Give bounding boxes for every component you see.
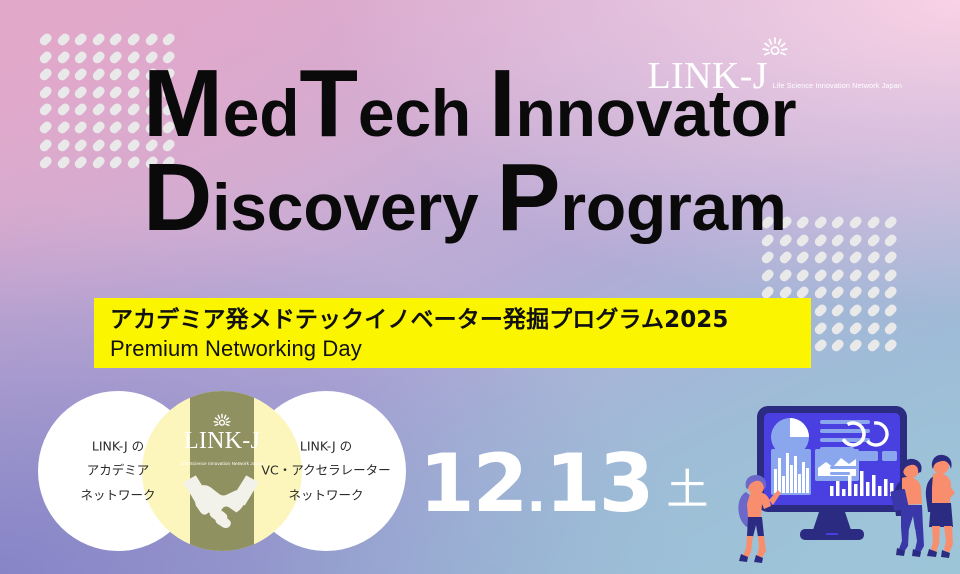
title-cap-p: P xyxy=(496,144,560,251)
subtitle-japanese: アカデミア発メドテックイノベーター発掘プログラム2025 xyxy=(110,305,811,335)
pattern-dot xyxy=(73,67,88,82)
pattern-dot xyxy=(108,102,123,117)
pattern-dot xyxy=(91,84,106,99)
pattern-dot xyxy=(91,67,106,82)
pattern-dot xyxy=(813,338,828,353)
pattern-dot xyxy=(73,102,88,117)
pattern-dot xyxy=(73,49,88,64)
pattern-dot xyxy=(55,102,70,117)
pattern-dot xyxy=(73,155,88,170)
pattern-dot xyxy=(883,232,898,247)
pattern-dot xyxy=(883,267,898,282)
pattern-dot xyxy=(865,303,880,318)
pattern-dot xyxy=(91,155,106,170)
pattern-dot xyxy=(865,320,880,335)
pattern-dot xyxy=(813,250,828,265)
pattern-dot xyxy=(126,137,141,152)
pattern-dot xyxy=(55,155,70,170)
pattern-dot xyxy=(126,102,141,117)
pattern-dot xyxy=(830,338,845,353)
monitor-stand-neck xyxy=(813,512,851,530)
pattern-dot xyxy=(55,67,70,82)
pattern-dot xyxy=(830,303,845,318)
title-text-nnovator: nnovator xyxy=(516,76,797,150)
pattern-dot xyxy=(848,250,863,265)
pattern-dot xyxy=(883,320,898,335)
pattern-dot xyxy=(848,232,863,247)
pattern-dot xyxy=(795,215,810,230)
title-line-1: MedTechInnovator xyxy=(143,57,796,151)
pattern-dot xyxy=(865,215,880,230)
pattern-dot xyxy=(883,215,898,230)
title-text-ech: ech xyxy=(358,76,471,150)
pattern-dot xyxy=(73,120,88,135)
pattern-dot xyxy=(126,120,141,135)
area-chart-panel xyxy=(815,449,859,481)
title-cap-m: M xyxy=(143,50,223,157)
pattern-dot xyxy=(91,120,106,135)
pattern-dot xyxy=(813,215,828,230)
venn-diagram: LINK-J の アカデミア ネットワーク LINK-J の VC・アクセラレー… xyxy=(38,391,408,551)
pattern-dot xyxy=(126,49,141,64)
handshake-icon xyxy=(179,461,263,529)
pattern-dot xyxy=(848,267,863,282)
date-month: 12 xyxy=(419,437,526,530)
pattern-dot xyxy=(848,338,863,353)
venn-academia-line3: ネットワーク xyxy=(34,483,202,507)
pattern-dot xyxy=(91,49,106,64)
pattern-dot xyxy=(73,32,88,47)
pattern-dot xyxy=(38,137,53,152)
pattern-dot xyxy=(848,320,863,335)
pattern-dot xyxy=(55,120,70,135)
title-text-ed: ed xyxy=(223,76,300,150)
title-cap-i: I xyxy=(489,50,515,157)
pattern-dot xyxy=(865,285,880,300)
pattern-dot xyxy=(55,137,70,152)
pattern-dot xyxy=(91,32,106,47)
sunburst-icon xyxy=(212,413,232,429)
page-title: MedTechInnovator DiscoveryProgram xyxy=(143,57,796,245)
pattern-dot xyxy=(161,32,176,47)
bar-chart-panel xyxy=(771,449,811,495)
event-poster: LINK-J Life Science Innovation Network J… xyxy=(0,0,960,574)
pattern-dot xyxy=(777,250,792,265)
pattern-dot xyxy=(865,250,880,265)
pattern-dot xyxy=(848,303,863,318)
venn-vc-line3: ネットワーク xyxy=(242,483,410,507)
pattern-dot xyxy=(865,267,880,282)
person-standing xyxy=(926,455,955,558)
pattern-dot xyxy=(830,320,845,335)
date-day-of-week: 土 xyxy=(666,465,708,514)
pattern-dot xyxy=(830,285,845,300)
pattern-dot xyxy=(38,67,53,82)
pattern-dot xyxy=(865,232,880,247)
title-line-2: DiscoveryProgram xyxy=(143,151,796,245)
pattern-dot xyxy=(813,303,828,318)
pattern-dot xyxy=(813,285,828,300)
pattern-dot xyxy=(777,267,792,282)
pattern-dot xyxy=(795,250,810,265)
subtitle-banner: アカデミア発メドテックイノベーター発掘プログラム2025 Premium Net… xyxy=(94,298,811,368)
title-cap-d: D xyxy=(143,144,212,251)
subtitle-english: Premium Networking Day xyxy=(110,335,811,363)
pattern-dot xyxy=(73,137,88,152)
pattern-dot xyxy=(108,67,123,82)
pattern-dot xyxy=(813,267,828,282)
pattern-dot xyxy=(108,49,123,64)
pattern-dot xyxy=(38,49,53,64)
linkj-wordmark: LINK-J xyxy=(184,428,260,454)
pattern-dot xyxy=(830,232,845,247)
pattern-dot xyxy=(795,232,810,247)
pattern-dot xyxy=(38,102,53,117)
pattern-dot xyxy=(126,155,141,170)
pattern-dot xyxy=(55,49,70,64)
pattern-dot xyxy=(143,32,158,47)
title-text-iscovery: iscovery xyxy=(212,170,478,244)
pattern-dot xyxy=(55,84,70,99)
pattern-dot xyxy=(73,84,88,99)
pattern-dot xyxy=(91,137,106,152)
pattern-dot xyxy=(795,267,810,282)
pattern-dot xyxy=(760,250,775,265)
pattern-dot xyxy=(830,215,845,230)
pattern-dot xyxy=(883,303,898,318)
event-date: 12.13土 xyxy=(419,444,708,524)
pattern-dot xyxy=(108,137,123,152)
pattern-dot xyxy=(38,32,53,47)
pattern-dot xyxy=(883,285,898,300)
pattern-dot xyxy=(91,102,106,117)
pattern-dot xyxy=(38,155,53,170)
pattern-dot xyxy=(830,250,845,265)
pattern-dot xyxy=(830,267,845,282)
pattern-dot xyxy=(55,32,70,47)
data-dashboard-people-illustration xyxy=(712,396,960,574)
pattern-dot xyxy=(126,67,141,82)
pattern-dot xyxy=(883,250,898,265)
pattern-dot xyxy=(38,120,53,135)
pattern-dot xyxy=(38,84,53,99)
pattern-dot xyxy=(108,155,123,170)
pattern-dot xyxy=(126,84,141,99)
pattern-dot xyxy=(108,120,123,135)
pattern-dot xyxy=(760,267,775,282)
pattern-dot xyxy=(813,232,828,247)
pattern-dot xyxy=(126,32,141,47)
title-cap-t: T xyxy=(299,50,357,157)
pattern-dot xyxy=(108,84,123,99)
pattern-dot xyxy=(883,338,898,353)
date-separator: . xyxy=(526,464,545,524)
pattern-dot xyxy=(848,215,863,230)
pattern-dot xyxy=(108,32,123,47)
pattern-dot xyxy=(848,285,863,300)
pattern-dot xyxy=(865,338,880,353)
title-text-rogram: rogram xyxy=(560,170,786,244)
date-day: 13 xyxy=(545,437,652,530)
pattern-dot xyxy=(813,320,828,335)
